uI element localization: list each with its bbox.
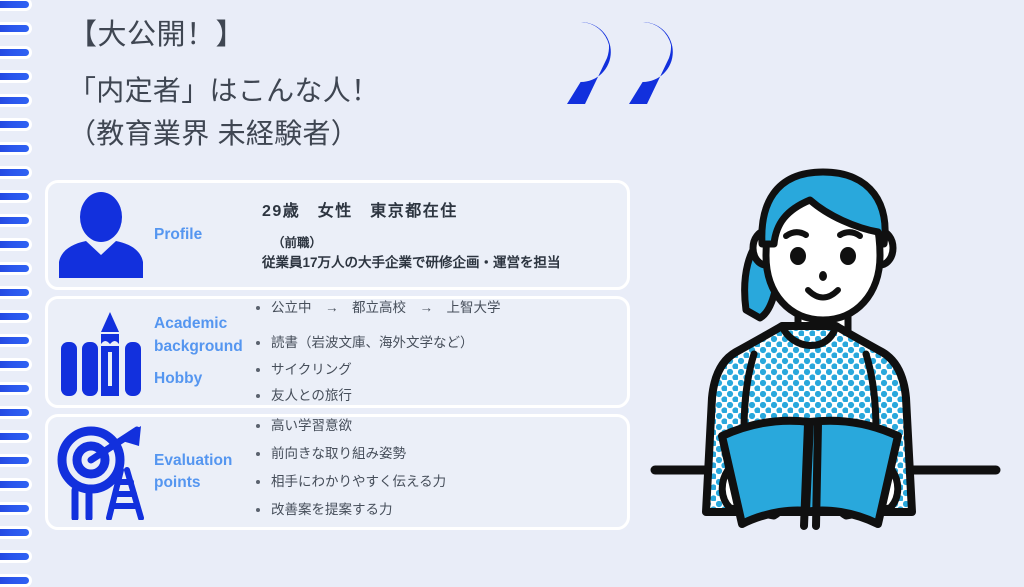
academic-bullet-list: 公立中 → 都立高校 → 上智大学 読書（岩波文庫、海外文学など） サイクリング…	[254, 298, 617, 406]
spiral-ring	[0, 310, 32, 323]
list-item: 改善案を提案する力	[254, 500, 617, 520]
spiral-ring	[0, 190, 32, 203]
title-kicker: 【大公開！】	[68, 16, 538, 55]
spiral-ring	[0, 478, 32, 491]
spiral-ring	[0, 70, 32, 83]
card-academic-label: Academic background Hobby	[154, 313, 254, 390]
list-item: 相手にわかりやすく伝える力	[254, 472, 617, 492]
spiral-ring	[0, 22, 32, 35]
spiral-ring	[0, 430, 32, 443]
list-item: 友人との旅行	[254, 386, 617, 406]
list-item: 公立中 → 都立高校 → 上智大学	[254, 298, 617, 318]
spiral-ring	[0, 238, 32, 251]
spiral-ring	[0, 262, 32, 275]
profile-previous-job-label: （前職）	[262, 234, 617, 253]
spiral-ring	[0, 94, 32, 107]
spiral-ring	[0, 526, 32, 539]
card-academic-body: 公立中 → 都立高校 → 上智大学 読書（岩波文庫、海外文学など） サイクリング…	[254, 298, 627, 406]
spiral-ring	[0, 286, 32, 299]
card-evaluation-label-line-1: Evaluation	[154, 450, 254, 472]
list-item: 読書（岩波文庫、海外文学など）	[254, 333, 617, 353]
page-title-line-1: 「内定者」はこんな人！	[68, 70, 538, 113]
card-profile-body: 29歳 女性 東京都在住 （前職） 従業員17万人の大手企業で研修企画・運営を担…	[262, 197, 627, 273]
spiral-ring	[0, 0, 32, 11]
target-ladder-icon-wrap	[48, 424, 154, 520]
spiral-ring	[0, 550, 32, 563]
person-icon	[55, 192, 147, 278]
spiral-ring	[0, 454, 32, 467]
list-item: サイクリング	[254, 360, 617, 380]
spiral-ring	[0, 502, 32, 515]
pencils-icon	[55, 306, 147, 398]
spiral-ring	[0, 214, 32, 227]
card-academic-label-line-1: Academic	[154, 313, 254, 335]
spiral-ring	[0, 382, 32, 395]
card-academic: Academic background Hobby 公立中 → 都立高校 → 上…	[45, 296, 630, 408]
card-evaluation-label: Evaluation points	[154, 450, 254, 495]
spiral-ring	[0, 166, 32, 179]
page-title-line-2: （教育業界 未経験者）	[68, 113, 538, 156]
heading-block: 【大公開！】 「内定者」はこんな人！ （教育業界 未経験者）	[68, 16, 538, 155]
card-academic-label-line-2: background	[154, 336, 254, 358]
list-item: 高い学習意欲	[254, 416, 617, 436]
quote-mark-icon	[551, 18, 673, 108]
target-ladder-icon	[53, 424, 149, 520]
spiral-ring	[0, 334, 32, 347]
spiral-ring	[0, 142, 32, 155]
card-evaluation-body: 高い学習意欲 前向きな取り組み姿勢 相手にわかりやすく伝える力 改善案を提案する…	[254, 416, 627, 529]
spiral-binding	[0, 0, 46, 576]
pencils-icon-wrap	[48, 306, 154, 398]
woman-reading-book-illustration	[650, 160, 1024, 576]
card-academic-label-line-3: Hobby	[154, 368, 254, 390]
card-evaluation-label-line-2: points	[154, 472, 254, 494]
card-evaluation: Evaluation points 高い学習意欲 前向きな取り組み姿勢 相手にわ…	[45, 414, 630, 530]
spiral-ring	[0, 118, 32, 131]
card-profile-label: Profile	[154, 224, 262, 246]
profile-headline: 29歳 女性 東京都在住	[262, 197, 617, 221]
page-title: 「内定者」はこんな人！ （教育業界 未経験者）	[68, 70, 538, 155]
list-item: 前向きな取り組み姿勢	[254, 444, 617, 464]
spiral-ring	[0, 46, 32, 59]
spiral-ring	[0, 358, 32, 371]
evaluation-bullet-list: 高い学習意欲 前向きな取り組み姿勢 相手にわかりやすく伝える力 改善案を提案する…	[254, 416, 617, 521]
card-profile: Profile 29歳 女性 東京都在住 （前職） 従業員17万人の大手企業で研…	[45, 180, 630, 290]
spiral-ring	[0, 406, 32, 419]
person-icon-wrap	[48, 192, 154, 278]
profile-previous-job-text: 従業員17万人の大手企業で研修企画・運営を担当	[262, 253, 617, 273]
